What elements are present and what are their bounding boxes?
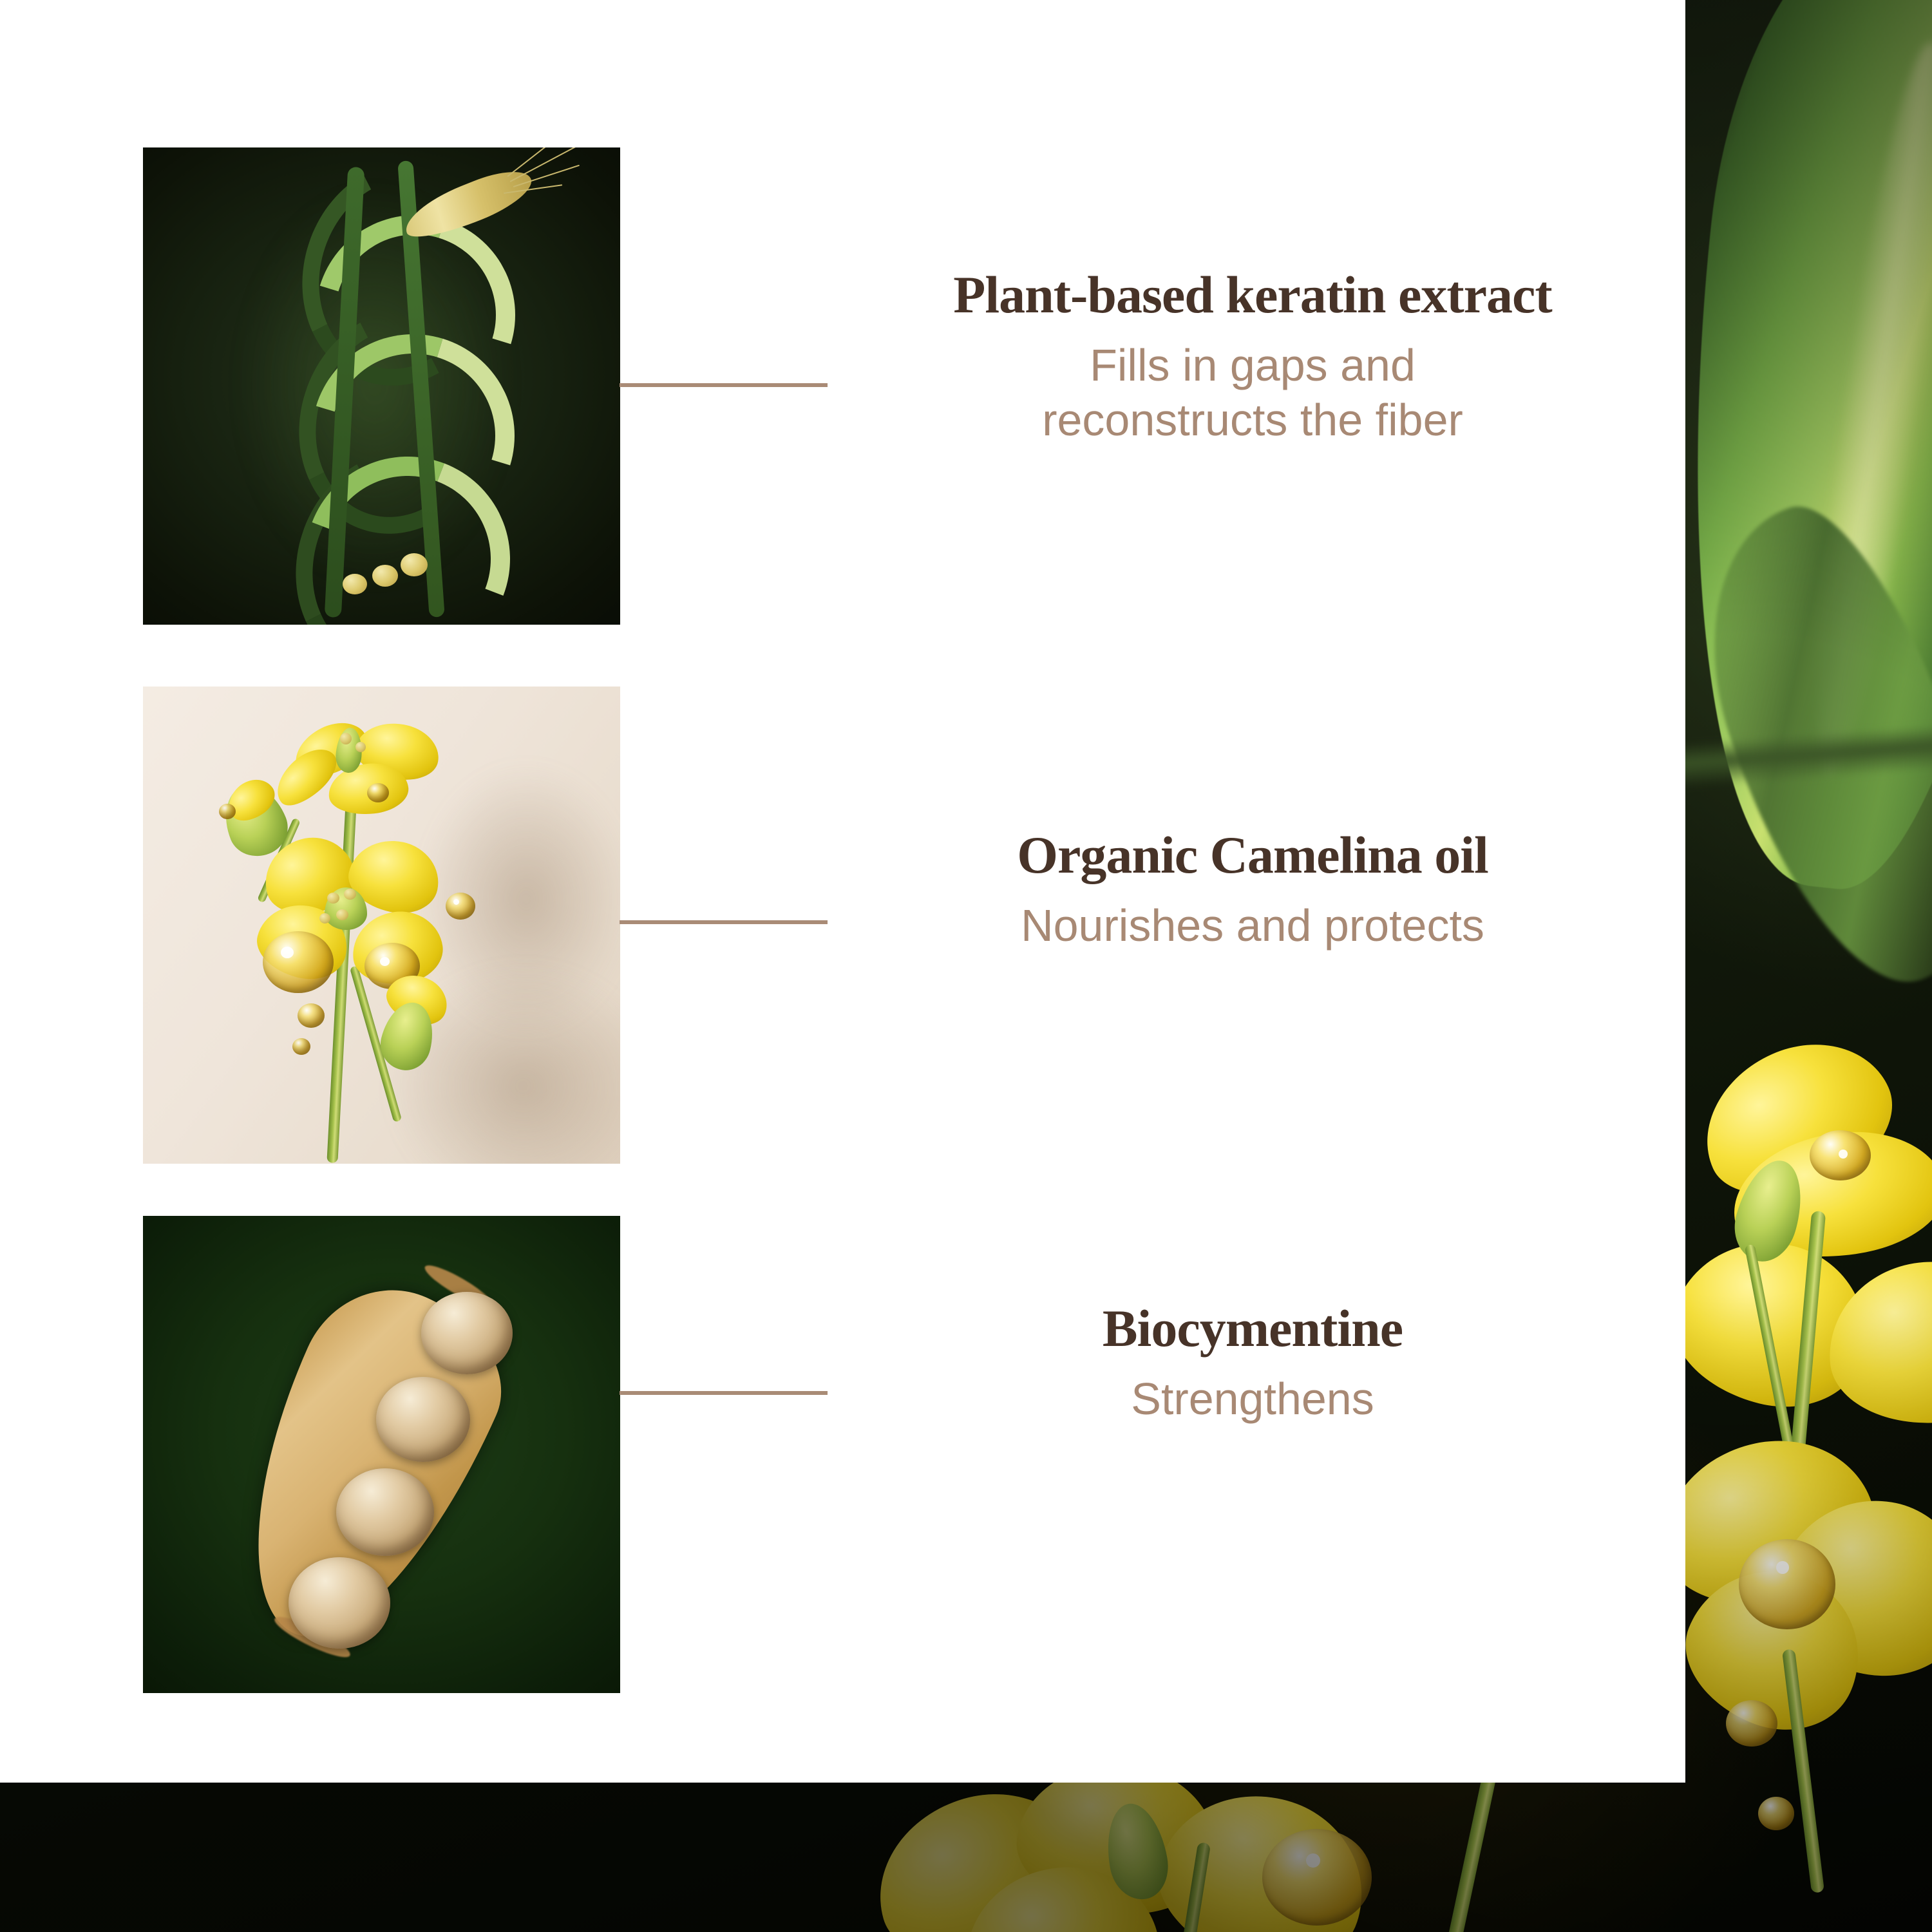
ingredient-image-organic-camelina-oil[interactable]	[143, 687, 620, 1164]
ingredient-text-biocymentine: Biocymentine Strengthens	[828, 1301, 1678, 1426]
oil-droplet-1	[446, 893, 475, 920]
ingredient-title-organic-camelina-oil: Organic Camelina oil	[828, 828, 1678, 883]
ingredient-title-plant-based-keratin-extract: Plant-based keratin extract	[828, 267, 1678, 323]
oil-droplet-3	[292, 1038, 310, 1055]
ingredient-title-biocymentine: Biocymentine	[828, 1301, 1678, 1356]
seed-1	[401, 553, 428, 576]
ingredient-text-organic-camelina-oil: Organic Camelina oil Nourishes and prote…	[828, 828, 1678, 953]
ingredient-description-plant-based-keratin-extract: Fills in gaps and reconstructs the fiber	[828, 338, 1678, 448]
seed-3	[343, 574, 367, 594]
ingredient-image-biocymentine[interactable]	[143, 1216, 620, 1693]
oil-droplet-1-highlight	[453, 899, 459, 905]
ingredient-description-organic-camelina-oil: Nourishes and protects	[828, 898, 1678, 953]
ingredient-image-plant-based-keratin-extract[interactable]	[143, 147, 620, 625]
ingredient-description-line-1: Fills in gaps and	[828, 338, 1678, 393]
connector-line-biocymentine	[620, 1391, 828, 1395]
soybean-3	[336, 1468, 434, 1556]
seed-2	[372, 565, 398, 587]
ingredient-description-line-2: reconstructs the fiber	[828, 393, 1678, 448]
soybean-4	[289, 1557, 390, 1649]
oil-droplet-2	[298, 1003, 325, 1028]
soybean-1	[421, 1292, 513, 1374]
connector-line-plant-based-keratin-extract	[620, 383, 828, 387]
ingredient-description-biocymentine: Strengthens	[828, 1372, 1678, 1426]
ingredient-text-plant-based-keratin-extract: Plant-based keratin extract Fills in gap…	[828, 267, 1678, 448]
connector-line-organic-camelina-oil	[620, 920, 828, 924]
infographic-canvas: Plant-based keratin extract Fills in gap…	[0, 0, 1932, 1932]
soybean-2	[376, 1377, 470, 1462]
